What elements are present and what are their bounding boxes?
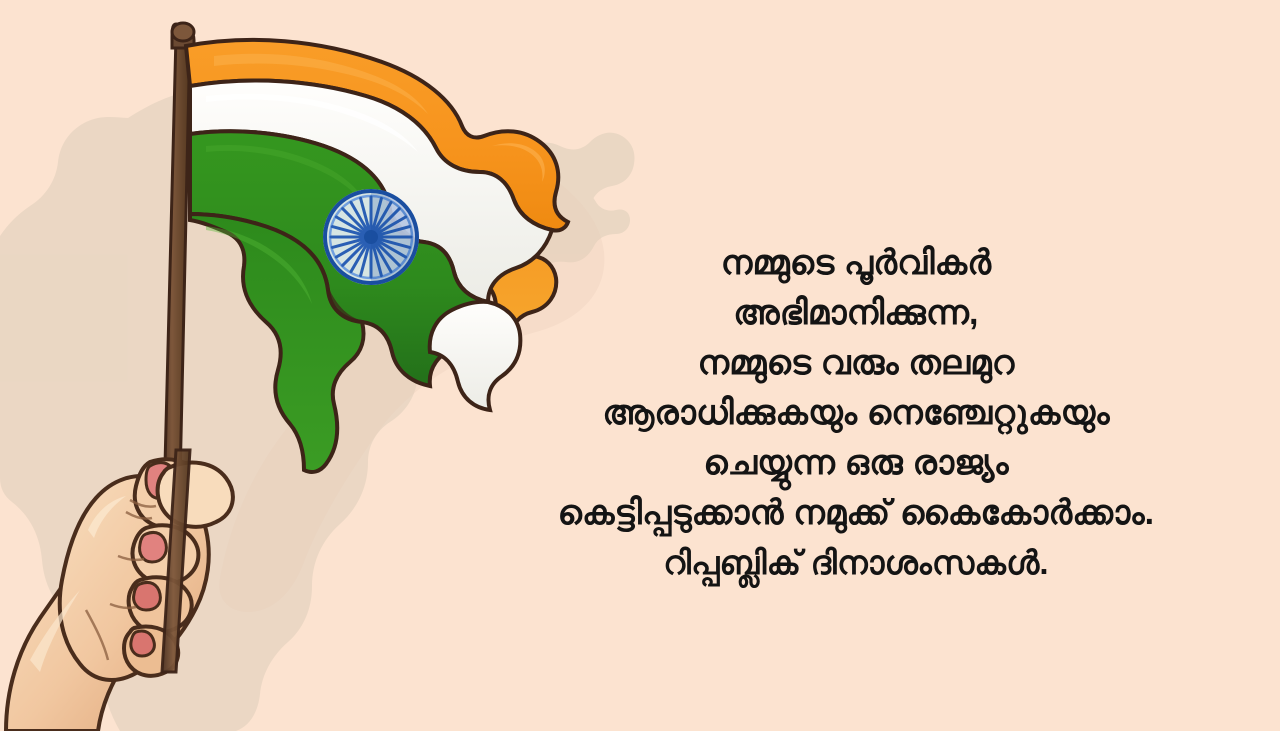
greeting-line-1: നമ്മുടെ പൂർവികർ [486,238,1226,288]
greeting-card-canvas: നമ്മുടെ പൂർവികർ അഭിമാനിക്കുന്ന, നമ്മുടെ … [0,0,1280,731]
greeting-line-2: അഭിമാനിക്കുന്ന, [486,288,1226,338]
greeting-text-block: നമ്മുടെ പൂർവികർ അഭിമാനിക്കുന്ന, നമ്മുടെ … [486,238,1226,588]
greeting-line-7-signoff: റിപ്പബ്ലിക് ദിനാശംസകൾ. [486,538,1226,588]
ashoka-chakra-icon [323,189,419,285]
greeting-line-4: ആരാധിക്കുകയും നെഞ്ചേറ്റുകയും [486,388,1226,438]
greeting-line-5: ചെയ്യുന്ന ഒരു രാജ്യം [486,438,1226,488]
greeting-line-3: നമ്മുടെ വരും തലമുറ [486,338,1226,388]
greeting-line-6: കെട്ടിപ്പടുക്കാൻ നമുക്ക് കൈകോർക്കാം. [486,488,1226,538]
